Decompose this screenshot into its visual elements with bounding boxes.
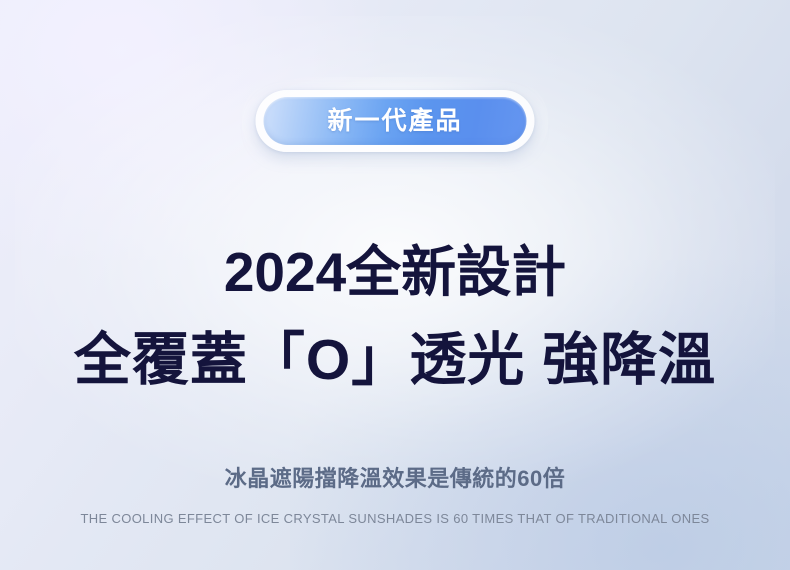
subtitle-chinese: 冰晶遮陽擋降溫效果是傳統的60倍 xyxy=(0,466,790,492)
hero-banner: 新一代產品 2024全新設計 全覆蓋「O」透光 強降溫 冰晶遮陽擋降溫效果是傳統… xyxy=(0,0,790,570)
subtitle-english: THE COOLING EFFECT OF ICE CRYSTAL SUNSHA… xyxy=(0,511,790,527)
new-generation-badge: 新一代產品 xyxy=(264,97,527,145)
badge-pill: 新一代產品 xyxy=(264,97,527,145)
badge-label: 新一代產品 xyxy=(327,109,462,134)
headline-line-1: 2024全新設計 xyxy=(0,245,790,300)
banner-content: 新一代產品 2024全新設計 全覆蓋「O」透光 強降溫 冰晶遮陽擋降溫效果是傳統… xyxy=(0,0,790,570)
headline-line-2: 全覆蓋「O」透光 強降溫 xyxy=(0,332,790,389)
